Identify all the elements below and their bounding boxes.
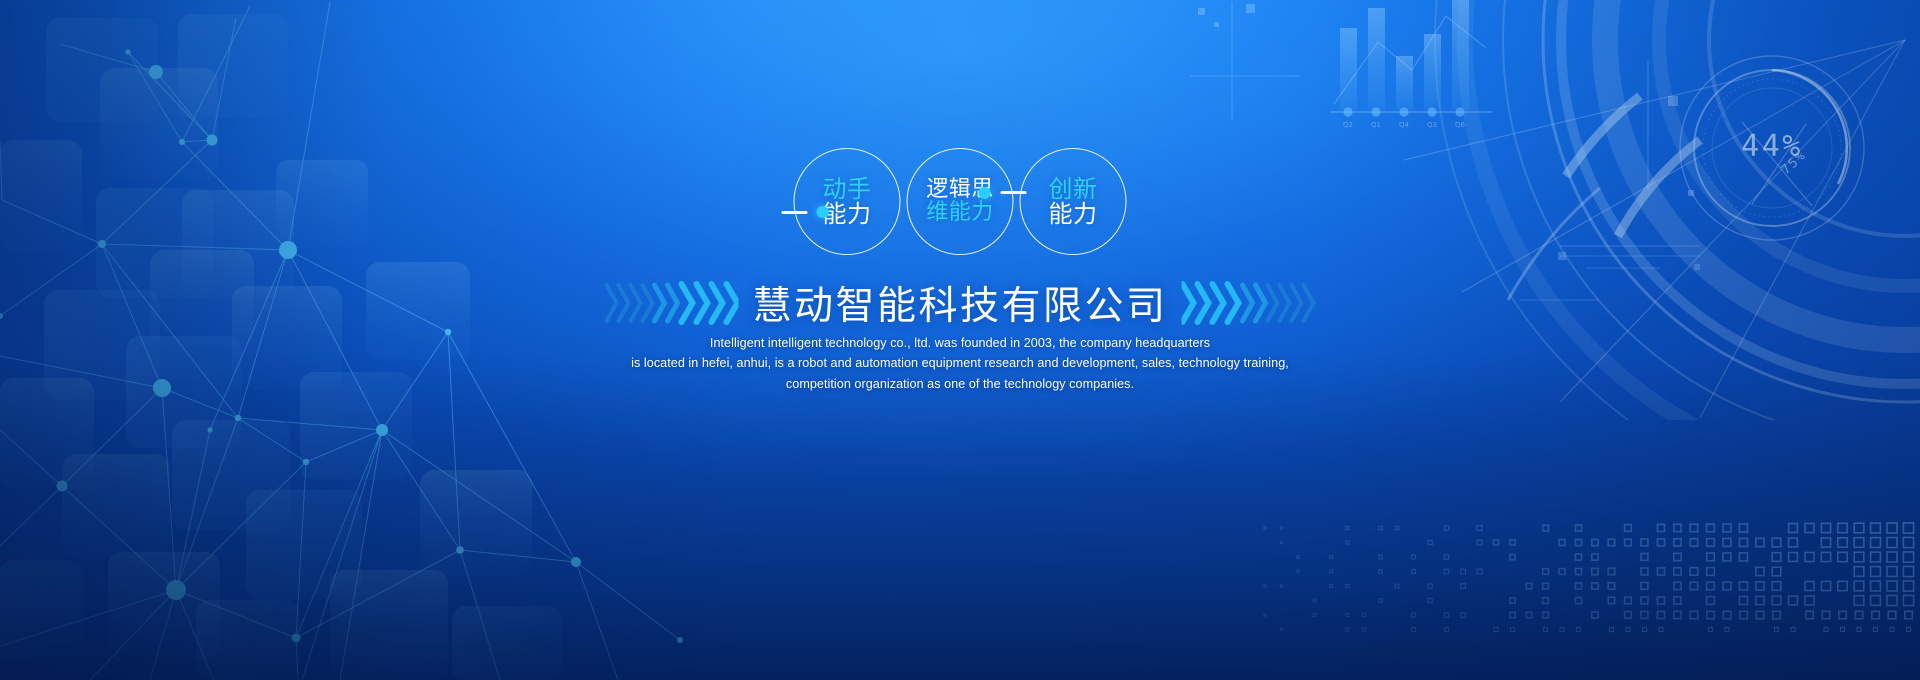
company-banner: 75% 44% (0, 0, 1920, 680)
background-vignette (0, 0, 1920, 680)
